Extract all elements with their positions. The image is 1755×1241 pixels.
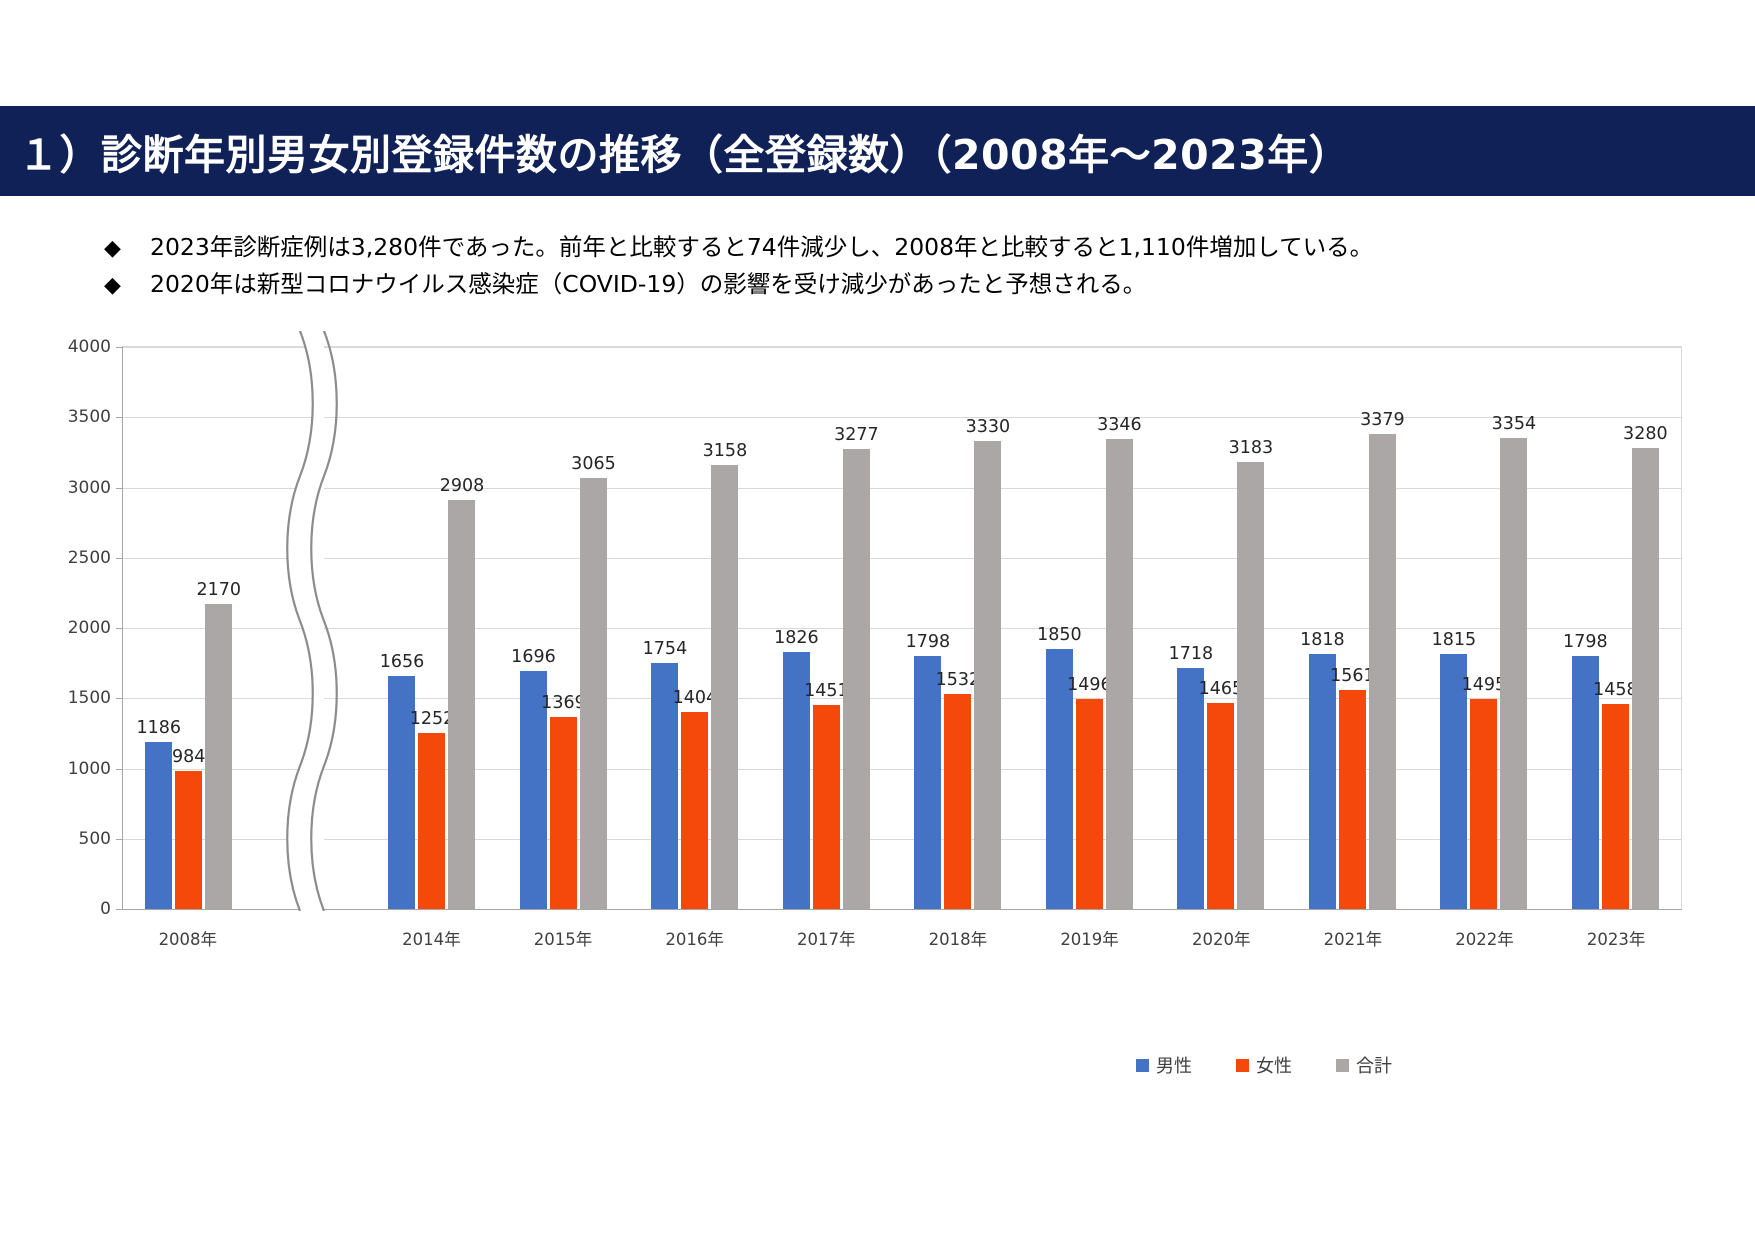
bar-female[interactable]: 1369 (550, 347, 577, 909)
bar-fill (681, 712, 708, 909)
bar-group: 169613693065 (498, 347, 629, 909)
bar-group: 182614513277 (761, 347, 892, 909)
y-axis-tick-mark (116, 698, 123, 699)
bar-value-label: 3065 (571, 454, 616, 474)
bar-value-label: 3280 (1623, 424, 1668, 444)
bullet-marker-icon: ◆ (104, 270, 150, 300)
bar-value-label: 3354 (1492, 414, 1537, 434)
y-axis-tick-label: 2000 (68, 618, 123, 638)
bar-fill (175, 771, 202, 909)
x-axis-label: 2021年 (1287, 926, 1419, 950)
legend-swatch-icon (1236, 1059, 1249, 1072)
y-axis-tick-label: 1000 (68, 759, 123, 779)
legend-swatch-icon (1136, 1059, 1149, 1072)
x-axis-label: 2015年 (497, 926, 629, 950)
y-axis-tick-label: 3000 (68, 478, 123, 498)
bar-female[interactable]: 1561 (1339, 347, 1366, 909)
bar-group: 179815323330 (892, 347, 1023, 909)
bar-fill (711, 465, 738, 909)
bar-total[interactable]: 3330 (974, 347, 1001, 909)
bar-value-label: 2170 (196, 580, 241, 600)
bar-fill (1470, 699, 1497, 909)
bar-value-label: 3346 (1097, 415, 1142, 435)
bar-female[interactable]: 1404 (681, 347, 708, 909)
bar-fill (1369, 434, 1396, 909)
bar-group: 171814653183 (1155, 347, 1286, 909)
bar-total[interactable]: 3354 (1500, 347, 1527, 909)
x-axis-label: 2016年 (629, 926, 761, 950)
x-axis-label: 2017年 (760, 926, 892, 950)
bar-fill (550, 717, 577, 909)
bar-total[interactable]: 2908 (448, 347, 475, 909)
bar-male[interactable]: 1754 (651, 347, 678, 909)
bar-group: 11869842170 (123, 347, 254, 909)
bar-fill (1237, 462, 1264, 909)
summary-bullets: ◆ 2023年診断症例は3,280件であった。前年と比較すると74件減少し、20… (104, 232, 1584, 305)
bar-total[interactable]: 3183 (1237, 347, 1264, 909)
bar-male[interactable]: 1798 (914, 347, 941, 909)
bar-value-label: 3158 (703, 441, 748, 461)
y-axis-tick-mark (116, 558, 123, 559)
y-axis-tick-label: 4000 (68, 337, 123, 357)
bar-male[interactable]: 1696 (520, 347, 547, 909)
bullet-text: 2023年診断症例は3,280件であった。前年と比較すると74件減少し、2008… (150, 232, 1373, 264)
y-axis-tick-mark (116, 347, 123, 348)
bar-male[interactable]: 1826 (783, 347, 810, 909)
bar-value-label: 3183 (1229, 438, 1274, 458)
bar-fill (914, 656, 941, 909)
bullet-marker-icon: ◆ (104, 233, 150, 263)
bar-fill (813, 705, 840, 909)
bar-group: 175414043158 (629, 347, 760, 909)
bar-male[interactable]: 1656 (388, 347, 415, 909)
bullet-item: ◆ 2023年診断症例は3,280件であった。前年と比較すると74件減少し、20… (104, 232, 1584, 264)
bar-fill (1076, 699, 1103, 909)
title-banner: １）診断年別男女別登録件数の推移（全登録数）（2008年～2023年） (0, 106, 1755, 196)
bar-total[interactable]: 3379 (1369, 347, 1396, 909)
bar-male[interactable]: 1818 (1309, 347, 1336, 909)
bar-total[interactable]: 2170 (205, 347, 232, 909)
chart-legend: 男性女性合計 (56, 1052, 1682, 1078)
bar-fill (1106, 439, 1133, 909)
bar-value-label: 3330 (966, 417, 1011, 437)
bar-total[interactable]: 3158 (711, 347, 738, 909)
bar-value-label: 3277 (834, 425, 879, 445)
legend-label: 合計 (1356, 1052, 1392, 1078)
bar-male[interactable]: 1798 (1572, 347, 1599, 909)
bar-fill (1207, 703, 1234, 909)
y-axis-tick-mark (116, 769, 123, 770)
bar-fill (1500, 438, 1527, 909)
y-axis-tick-label: 1500 (68, 688, 123, 708)
y-axis-tick-mark (116, 628, 123, 629)
x-axis-label: 2014年 (366, 926, 498, 950)
bar-total[interactable]: 3065 (580, 347, 607, 909)
bar-group: 181815613379 (1287, 347, 1418, 909)
x-axis-labels: 2008年2014年2015年2016年2017年2018年2019年2020年… (122, 926, 1682, 950)
x-axis-label: 2019年 (1024, 926, 1156, 950)
bar-fill (418, 733, 445, 909)
x-axis-label: 2023年 (1550, 926, 1682, 950)
bar-chart: 05001000150020002500300035004000 1186984… (56, 330, 1716, 1030)
y-axis-tick-mark (116, 488, 123, 489)
page-title: １）診断年別男女別登録件数の推移（全登録数）（2008年～2023年） (0, 121, 1350, 181)
y-axis-tick-mark (116, 417, 123, 418)
bar-male[interactable]: 1718 (1177, 347, 1204, 909)
bar-total[interactable]: 3277 (843, 347, 870, 909)
y-axis-tick-label: 3500 (68, 407, 123, 427)
x-axis-label: 2008年 (122, 926, 254, 950)
x-axis-label: 2020年 (1155, 926, 1287, 950)
bar-fill (145, 742, 172, 909)
plot-area: 05001000150020002500300035004000 1186984… (122, 346, 1682, 910)
bar-group: 181514953354 (1418, 347, 1549, 909)
bar-fill (1309, 654, 1336, 909)
bar-value-label: 2908 (440, 476, 485, 496)
bar-group: 165612522908 (366, 347, 497, 909)
legend-item[interactable]: 合計 (1336, 1052, 1392, 1078)
legend-label: 男性 (1156, 1052, 1192, 1078)
x-axis-label: 2022年 (1419, 926, 1551, 950)
bar-fill (580, 478, 607, 909)
bar-female[interactable]: 1252 (418, 347, 445, 909)
legend-label: 女性 (1256, 1052, 1292, 1078)
bar-fill (974, 441, 1001, 909)
axis-break-spacer-label (254, 926, 366, 950)
bar-value-label: 3379 (1360, 410, 1405, 430)
bar-fill (1339, 690, 1366, 909)
bar-group: 179814583280 (1550, 347, 1681, 909)
bar-fill (843, 449, 870, 909)
y-axis-tick-label: 2500 (68, 548, 123, 568)
bar-female[interactable]: 984 (175, 347, 202, 909)
bullet-text: 2020年は新型コロナウイルス感染症（COVID-19）の影響を受け減少があった… (150, 269, 1146, 301)
bar-fill (448, 500, 475, 909)
bar-male[interactable]: 1850 (1046, 347, 1073, 909)
bar-value-label: 984 (172, 747, 205, 767)
slide-page: １）診断年別男女別登録件数の推移（全登録数）（2008年～2023年） ◆ 20… (0, 0, 1755, 1241)
y-axis-tick-mark (116, 839, 123, 840)
bar-male[interactable]: 1815 (1440, 347, 1467, 909)
y-axis-tick-mark (116, 909, 123, 910)
bar-total[interactable]: 3280 (1632, 347, 1659, 909)
bar-group: 185014963346 (1024, 347, 1155, 909)
bar-total[interactable]: 3346 (1106, 347, 1133, 909)
bar-fill (205, 604, 232, 909)
bar-fill (1632, 448, 1659, 909)
legend-swatch-icon (1336, 1059, 1349, 1072)
bar-fill (944, 694, 971, 909)
legend-item[interactable]: 男性 (1136, 1052, 1192, 1078)
bar-male[interactable]: 1186 (145, 347, 172, 909)
bar-groups: 1186984217016561252290816961369306517541… (123, 347, 1681, 909)
bar-female[interactable]: 1465 (1207, 347, 1234, 909)
legend-item[interactable]: 女性 (1236, 1052, 1292, 1078)
bullet-item: ◆ 2020年は新型コロナウイルス感染症（COVID-19）の影響を受け減少があ… (104, 269, 1584, 301)
bar-fill (1602, 704, 1629, 909)
bar-fill (1177, 668, 1204, 909)
x-axis-label: 2018年 (892, 926, 1024, 950)
